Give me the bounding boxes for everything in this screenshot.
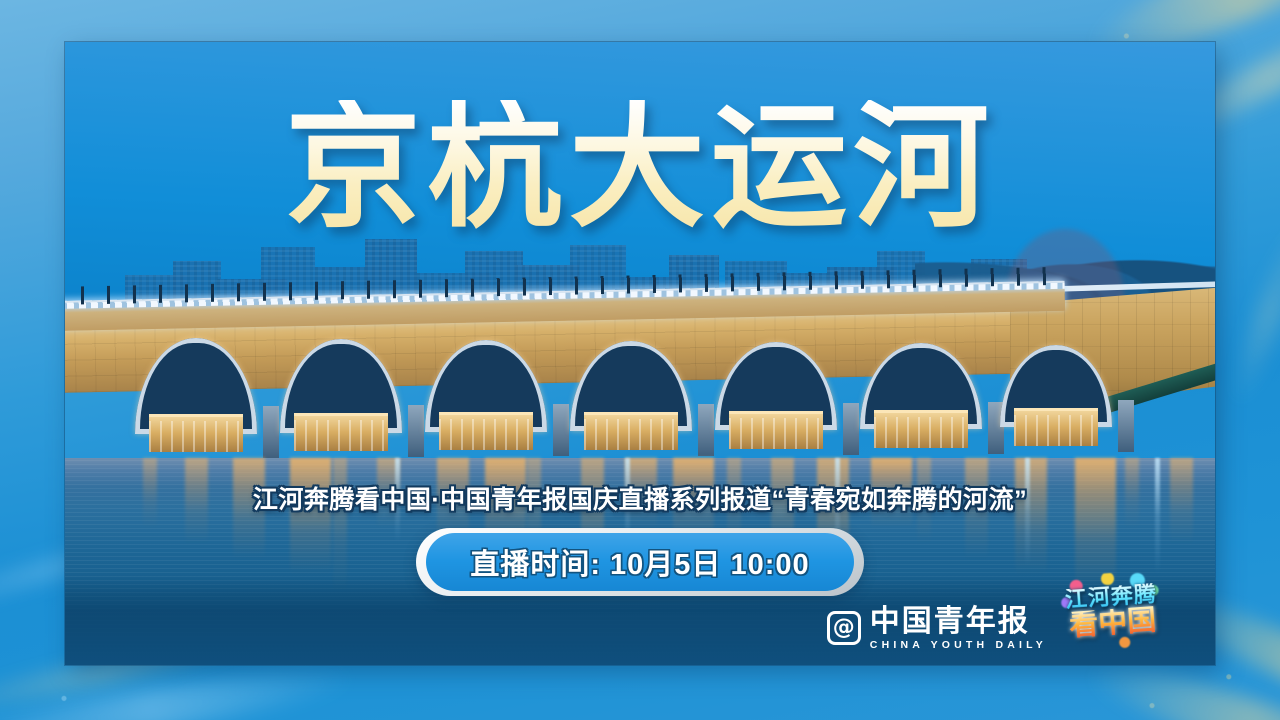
brand-text-block: 中国青年报 CHINA YOUTH DAILY	[870, 606, 1047, 652]
bridge-pier	[843, 403, 859, 455]
lock-gate	[149, 414, 243, 452]
lock-gate	[729, 411, 823, 449]
bridge-pier	[1118, 400, 1134, 452]
bridge-pier	[263, 406, 279, 458]
campaign-badge: 江河奔腾 看中国	[1056, 569, 1167, 654]
at-symbol-icon: @	[827, 611, 861, 645]
bridge-pier	[408, 405, 424, 457]
subtitle-caption: 江河奔腾看中国·中国青年报国庆直播系列报道“青春宛如奔腾的河流”	[65, 480, 1215, 516]
bridge-pier	[553, 404, 569, 456]
live-time-pill-inner: 直播时间: 10月5日 10:00	[426, 533, 853, 591]
lock-gate	[584, 412, 678, 450]
lock-gate	[439, 412, 533, 450]
china-youth-daily-logo: @ 中国青年报 CHINA YOUTH DAILY	[827, 606, 1047, 652]
brand-name-cn: 中国青年报	[870, 606, 1047, 638]
campaign-badge-line2: 看中国	[1068, 606, 1157, 641]
lock-gate	[294, 413, 388, 451]
live-time-pill-outer: 直播时间: 10月5日 10:00	[416, 528, 863, 596]
page-title: 京杭大运河	[65, 100, 1215, 239]
branding-row: @ 中国青年报 CHINA YOUTH DAILY 江河奔腾 看中国	[827, 573, 1165, 651]
brand-name-en: CHINA YOUTH DAILY	[870, 639, 1047, 651]
arch-bridge	[65, 277, 1215, 462]
lock-gate	[1014, 408, 1098, 446]
lock-gate	[874, 410, 968, 448]
bridge-pier	[698, 404, 714, 456]
poster-photo-card: 京杭大运河 江河奔腾看中国·中国青年报国庆直播系列报道“青春宛如奔腾的河流” 直…	[65, 42, 1215, 665]
